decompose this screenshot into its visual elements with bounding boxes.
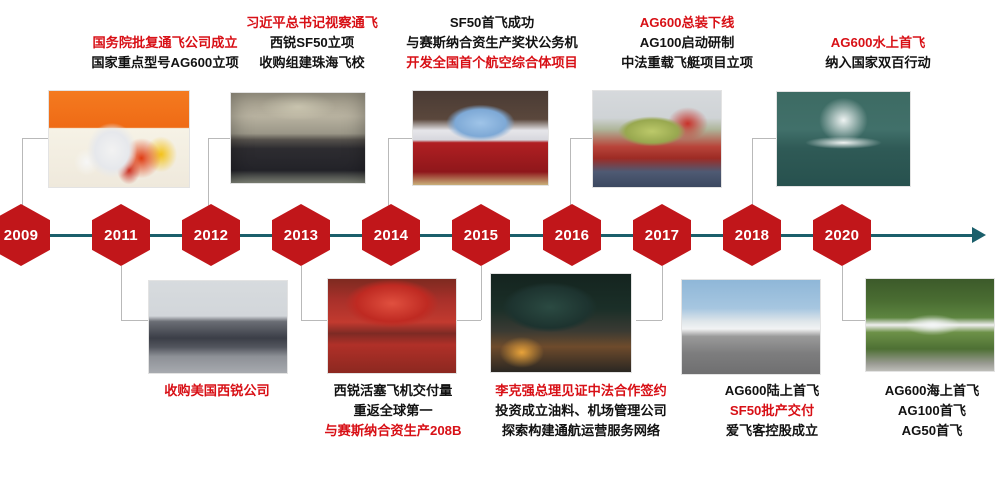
photo-image xyxy=(682,280,820,374)
milestone-line: 李克强总理见证中法合作签约 xyxy=(470,381,692,401)
timeline-infographic: 国务院批复通飞公司成立 国家重点型号AG600立项 习近平总书记视察通飞 西锐S… xyxy=(0,0,1000,491)
ag600-land-first-flight-photo xyxy=(681,279,821,375)
leader-line-2017 xyxy=(662,266,663,320)
milestone-text-2011: 收购美国西锐公司 xyxy=(132,381,302,401)
leader-line-2015 xyxy=(481,266,482,320)
photo-image xyxy=(491,274,631,372)
xi-jinping-factory-inspection-photo xyxy=(230,92,366,184)
milestone-text-2013: 西锐活塞飞机交付量 重返全球第一 与赛斯纳合资生产208B xyxy=(298,381,488,441)
timeline-arrow-head xyxy=(972,227,986,243)
year-label: 2014 xyxy=(374,227,409,244)
year-marker-2011[interactable]: 2011 xyxy=(92,204,150,266)
year-label: 2015 xyxy=(464,227,499,244)
photo-image xyxy=(149,281,287,373)
year-label: 2009 xyxy=(4,227,39,244)
year-marker-2015[interactable]: 2015 xyxy=(452,204,510,266)
milestone-line: 探索构建通航运营服务网络 xyxy=(470,421,692,441)
milestone-text-2015: 李克强总理见证中法合作签约 投资成立油料、机场管理公司 探索构建通航运营服务网络 xyxy=(470,381,692,441)
milestone-line: 与赛斯纳合资生产208B xyxy=(298,421,488,441)
leader-line-2011-h xyxy=(121,320,149,321)
year-label: 2012 xyxy=(194,227,229,244)
year-marker-2013[interactable]: 2013 xyxy=(272,204,330,266)
milestone-text-2017: AG600陆上首飞 SF50批产交付 爱飞客控股成立 xyxy=(692,381,852,441)
milestone-line: SF50首飞成功 xyxy=(382,13,602,33)
milestone-line: 纳入国家双百行动 xyxy=(778,53,978,73)
zhuhai-industrial-base-ceremony-photo xyxy=(48,90,190,188)
year-label: 2020 xyxy=(825,227,860,244)
leader-line-2020 xyxy=(842,266,843,320)
year-label: 2011 xyxy=(104,227,138,244)
leader-line-2009-h xyxy=(22,138,50,139)
photo-image xyxy=(866,279,994,371)
china-france-economic-summit-photo xyxy=(490,273,632,373)
leader-line-2012-h xyxy=(208,138,232,139)
milestone-line: 投资成立油料、机场管理公司 xyxy=(470,401,692,421)
milestone-line: AG600水上首飞 xyxy=(778,33,978,53)
milestone-line: AG600海上首飞 xyxy=(857,381,1000,401)
year-label: 2016 xyxy=(555,227,590,244)
milestone-line: AG600总装下线 xyxy=(592,13,782,33)
year-label: 2018 xyxy=(735,227,770,244)
photo-image xyxy=(231,93,365,183)
year-marker-2012[interactable]: 2012 xyxy=(182,204,240,266)
year-marker-2017[interactable]: 2017 xyxy=(633,204,691,266)
year-marker-2016[interactable]: 2016 xyxy=(543,204,601,266)
milestone-line: AG600陆上首飞 xyxy=(692,381,852,401)
milestone-line: 重返全球第一 xyxy=(298,401,488,421)
milestone-line: 收购美国西锐公司 xyxy=(132,381,302,401)
milestone-line: 西锐活塞飞机交付量 xyxy=(298,381,488,401)
cirrus-acquisition-group-photo xyxy=(148,280,288,374)
milestone-line: 与赛斯纳合资生产奖状公务机 xyxy=(382,33,602,53)
milestone-line: 爱飞客控股成立 xyxy=(692,421,852,441)
year-marker-2018[interactable]: 2018 xyxy=(723,204,781,266)
milestone-text-2014: SF50首飞成功 与赛斯纳合资生产奖状公务机 开发全国首个航空综合体项目 xyxy=(382,13,602,73)
milestone-line: SF50批产交付 xyxy=(692,401,852,421)
cessna-joint-venture-signing-photo xyxy=(412,90,549,186)
milestone-line: AG50首飞 xyxy=(857,421,1000,441)
photo-image xyxy=(413,91,548,185)
year-label: 2017 xyxy=(645,227,680,244)
leader-line-2016-h xyxy=(570,138,594,139)
photo-image xyxy=(777,92,910,186)
milestone-text-2020: AG600海上首飞 AG100首飞 AG50首飞 xyxy=(857,381,1000,441)
leader-line-2011 xyxy=(121,266,122,320)
cirrus-delivery-ceremony-photo xyxy=(327,278,457,374)
leader-line-2015-h xyxy=(455,320,481,321)
year-marker-2020[interactable]: 2020 xyxy=(813,204,871,266)
leader-line-2013-h xyxy=(301,320,327,321)
leader-line-2017-h xyxy=(636,320,662,321)
photo-image xyxy=(328,279,456,373)
leader-line-2013 xyxy=(301,266,302,320)
milestone-line: 中法重载飞艇项目立项 xyxy=(592,53,782,73)
year-label: 2013 xyxy=(284,227,319,244)
milestone-line: AG100首飞 xyxy=(857,401,1000,421)
leader-line-2018-h xyxy=(752,138,778,139)
photo-image xyxy=(593,91,721,187)
year-marker-2014[interactable]: 2014 xyxy=(362,204,420,266)
ag600-rollout-ceremony-photo xyxy=(592,90,722,188)
ag600-water-takeoff-photo xyxy=(776,91,911,187)
milestone-line: AG100启动研制 xyxy=(592,33,782,53)
ag50-first-flight-photo xyxy=(865,278,995,372)
leader-line-2014-h xyxy=(388,138,414,139)
photo-image xyxy=(49,91,189,187)
milestone-line: 开发全国首个航空综合体项目 xyxy=(382,53,602,73)
milestone-text-2018: AG600水上首飞 纳入国家双百行动 xyxy=(778,33,978,73)
milestone-text-2016: AG600总装下线 AG100启动研制 中法重载飞艇项目立项 xyxy=(592,13,782,73)
year-marker-2009[interactable]: 2009 xyxy=(0,204,50,266)
